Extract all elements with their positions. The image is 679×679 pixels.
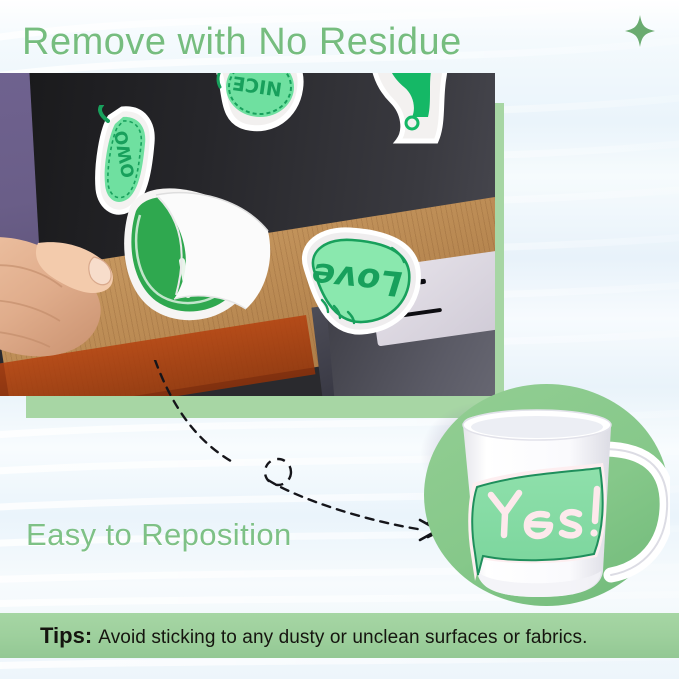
promo-banner: Remove with No Residue NICE xyxy=(0,0,679,679)
mug-illustration xyxy=(455,405,670,605)
photo-hand xyxy=(0,205,164,396)
photo-accent-horizontal xyxy=(26,396,484,418)
page-title: Remove with No Residue xyxy=(22,21,462,63)
page-subtitle: Easy to Reposition xyxy=(26,517,292,553)
tips-content: Tips: Avoid sticking to any dusty or unc… xyxy=(0,623,588,649)
tips-text: Avoid sticking to any dusty or unclean s… xyxy=(98,627,587,648)
tips-label: Tips: xyxy=(40,623,98,648)
product-photo-peeling: NICE OWO xyxy=(0,73,495,396)
photo-sticker-blob xyxy=(362,73,458,147)
photo-sticker-love: Love xyxy=(288,226,428,338)
tips-bar: Tips: Avoid sticking to any dusty or unc… xyxy=(0,613,679,658)
photo-sticker-nice: NICE xyxy=(200,73,310,145)
sparkle-star-icon xyxy=(625,15,655,47)
